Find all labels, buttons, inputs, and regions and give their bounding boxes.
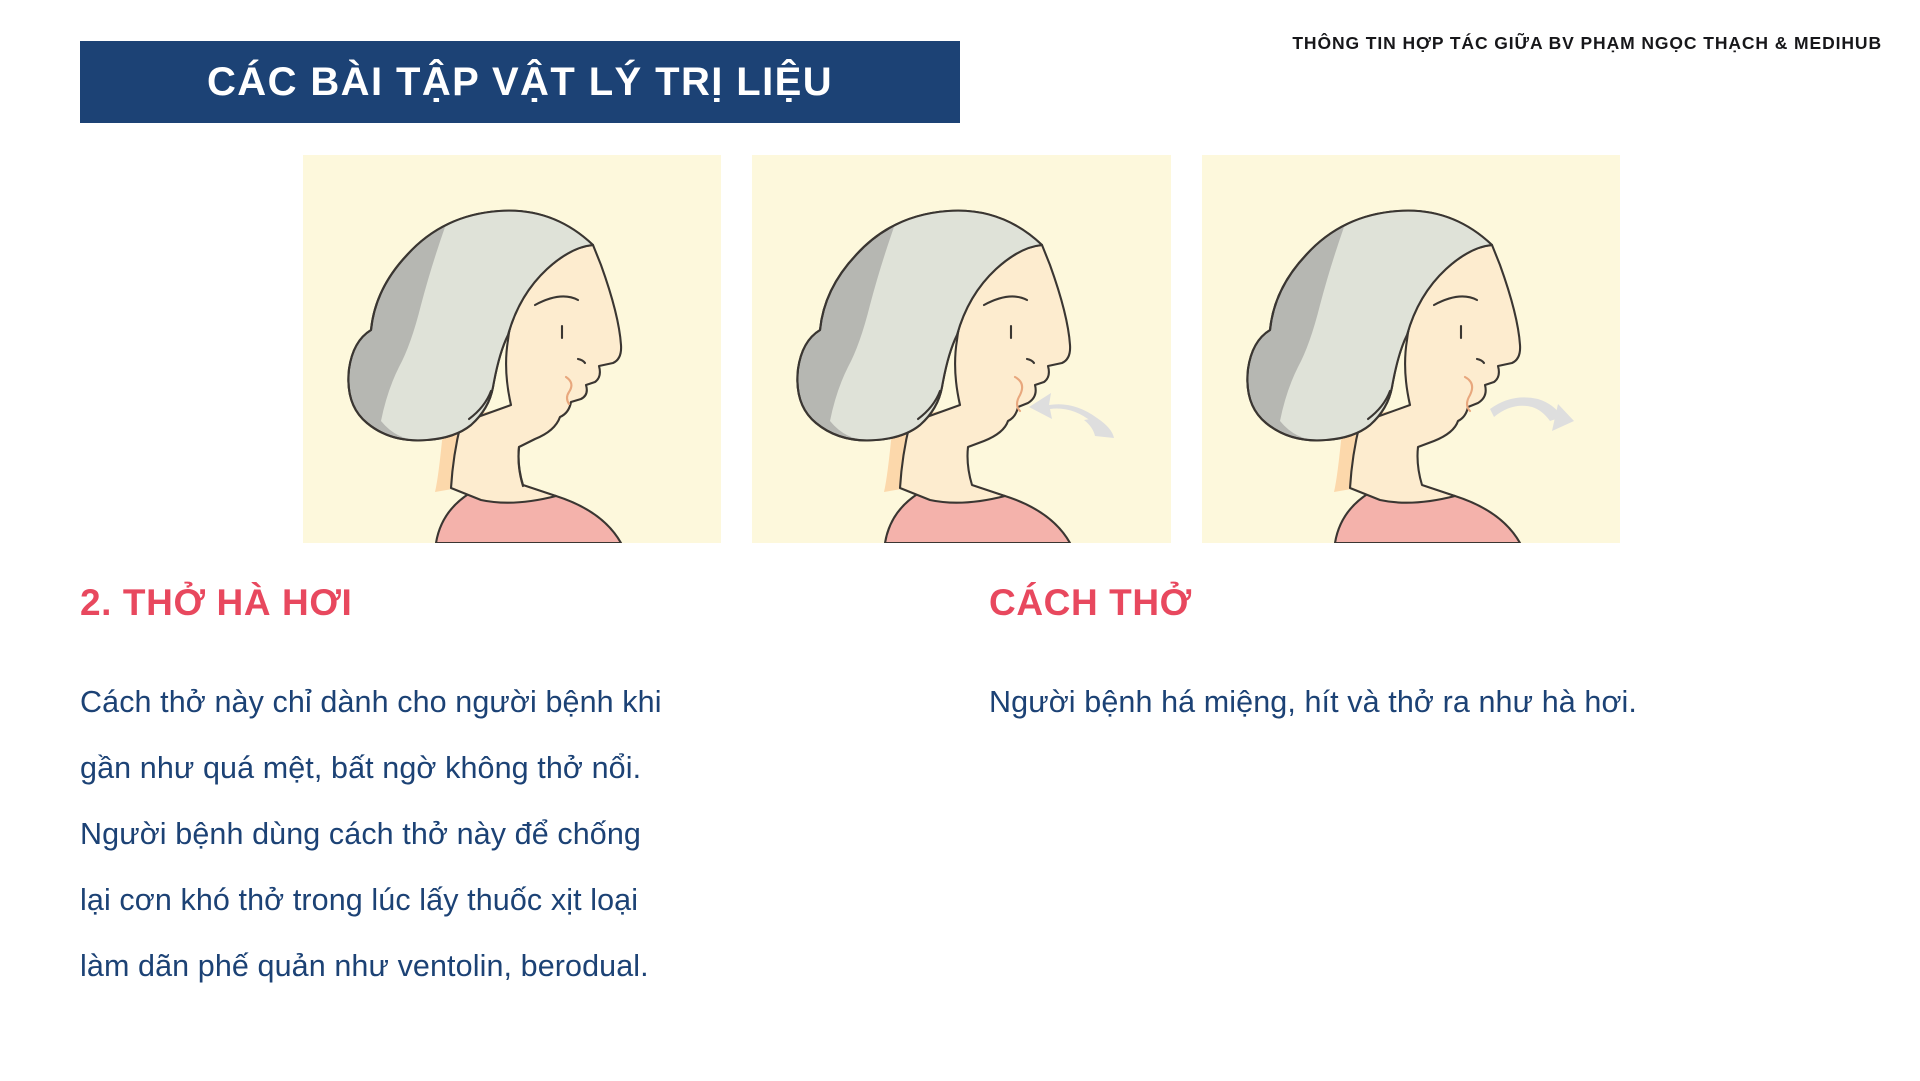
woman-profile-exhale-illustration [1202,155,1620,543]
woman-profile-neutral-illustration [303,155,721,543]
left-body-line: làm dãn phế quản như ventolin, berodual. [80,933,980,999]
right-body-line: Người bệnh há miệng, hít và thở ra như h… [989,669,1880,735]
partnership-note: THÔNG TIN HỢP TÁC GIỮA BV PHẠM NGỌC THẠC… [1292,33,1882,54]
exhale-arrow-icon [1490,397,1574,431]
left-body-text: Cách thở này chỉ dành cho người bệnh khi… [80,669,980,999]
slide-title: CÁC BÀI TẬP VẬT LÝ TRỊ LIỆU [207,60,833,105]
slide-title-bar: CÁC BÀI TẬP VẬT LÝ TRỊ LIỆU [80,41,960,123]
slide-page: CÁC BÀI TẬP VẬT LÝ TRỊ LIỆU THÔNG TIN HỢ… [0,0,1920,1081]
right-section-heading: CÁCH THỞ [989,580,1880,626]
illustration-panel-neutral-profile [303,155,721,543]
left-body-line: lại cơn khó thở trong lúc lấy thuốc xịt … [80,867,980,933]
right-body-text: Người bệnh há miệng, hít và thở ra như h… [989,669,1880,735]
content-column-right: CÁCH THỞ Người bệnh há miệng, hít và thở… [980,580,1880,999]
left-body-line: gần như quá mệt, bất ngờ không thở nổi. [80,735,980,801]
woman-profile-inhale-illustration [752,155,1170,543]
left-body-line: Cách thở này chỉ dành cho người bệnh khi [80,669,980,735]
content-column-left: 2. THỞ HÀ HƠI Cách thở này chỉ dành cho … [80,580,980,999]
left-section-heading: 2. THỞ HÀ HƠI [80,580,980,626]
inhale-arrow-icon [1029,393,1114,438]
illustration-panel-exhale-profile [1202,155,1620,543]
left-body-line: Người bệnh dùng cách thở này để chống [80,801,980,867]
content-columns: 2. THỞ HÀ HƠI Cách thở này chỉ dành cho … [80,580,1880,999]
illustration-strip [303,155,1620,543]
illustration-panel-inhale-profile [752,155,1170,543]
